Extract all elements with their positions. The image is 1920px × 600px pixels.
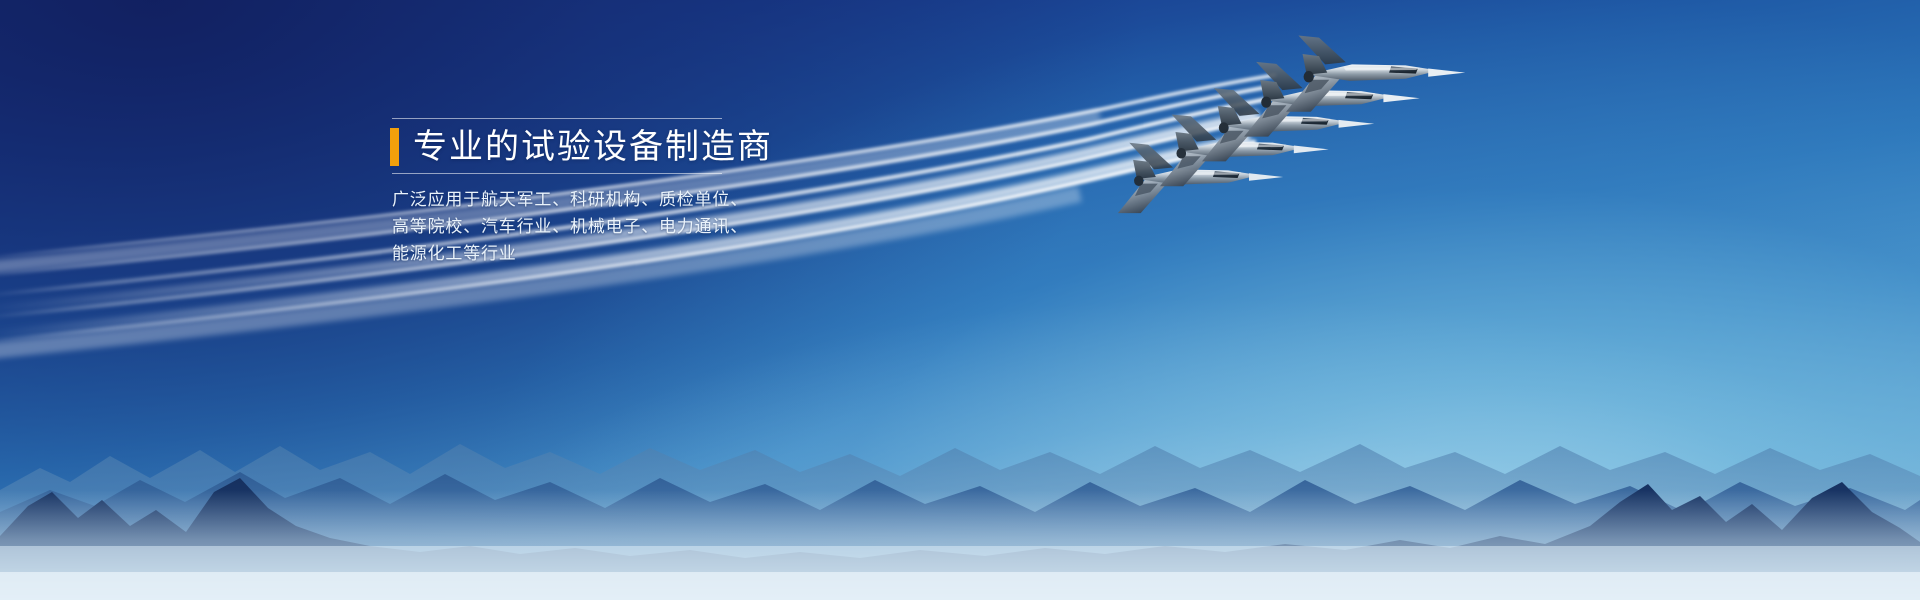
bottom-band (0, 572, 1920, 600)
hero-banner: 专业的试验设备制造商 广泛应用于航天军工、科研机构、质检单位、 高等院校、汽车行… (0, 0, 1920, 600)
subtitle-line-3: 能源化工等行业 (392, 240, 810, 267)
mountain-range (0, 340, 1920, 600)
subtitle-line-1: 广泛应用于航天军工、科研机构、质检单位、 (392, 186, 810, 213)
subtitle-line-2: 高等院校、汽车行业、机械电子、电力通讯、 (392, 213, 810, 240)
banner-copy: 专业的试验设备制造商 广泛应用于航天军工、科研机构、质检单位、 高等院校、汽车行… (390, 118, 810, 267)
accent-bar-icon (390, 128, 399, 166)
rule-bottom (392, 173, 722, 174)
banner-title: 专业的试验设备制造商 (413, 128, 773, 166)
banner-subtitle: 广泛应用于航天军工、科研机构、质检单位、 高等院校、汽车行业、机械电子、电力通讯… (392, 186, 810, 267)
fighter-jet-formation (1100, 30, 1520, 280)
banner-title-row: 专业的试验设备制造商 (390, 119, 810, 173)
